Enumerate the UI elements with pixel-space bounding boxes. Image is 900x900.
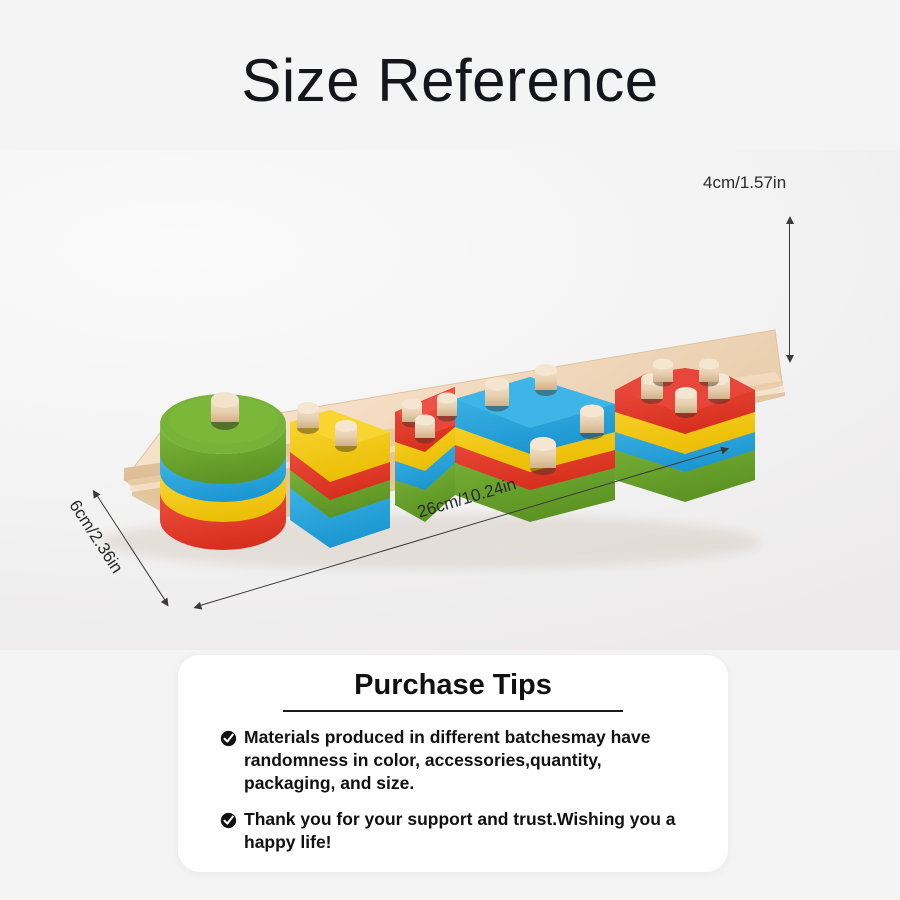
page-title: Size Reference — [0, 46, 900, 115]
check-circle-icon — [220, 730, 237, 747]
infographic-stage: Size Reference — [0, 0, 900, 900]
purchase-tips-list: Materials produced in different batchesm… — [178, 726, 728, 854]
purchase-tips-title: Purchase Tips — [178, 669, 728, 702]
height-dimension-arrow — [789, 223, 790, 356]
product-photo: 4cm/1.57in 26cm/10.24in 6cm/2.36in — [0, 150, 900, 650]
product-illustration — [0, 150, 900, 650]
height-dimension-label: 4cm/1.57in — [703, 173, 786, 193]
purchase-tips-divider — [283, 710, 623, 712]
list-item: Thank you for your support and trust.Wis… — [220, 808, 694, 854]
stack-pentagon — [615, 359, 755, 503]
circle-peg — [211, 392, 239, 430]
check-circle-icon — [220, 812, 237, 829]
purchase-tip-text: Materials produced in different batchesm… — [244, 726, 694, 795]
list-item: Materials produced in different batchesm… — [220, 726, 694, 795]
purchase-tips-card: Purchase Tips Materials produced in diff… — [178, 655, 728, 872]
purchase-tip-text: Thank you for your support and trust.Wis… — [244, 808, 694, 854]
stack-circle — [160, 392, 286, 550]
